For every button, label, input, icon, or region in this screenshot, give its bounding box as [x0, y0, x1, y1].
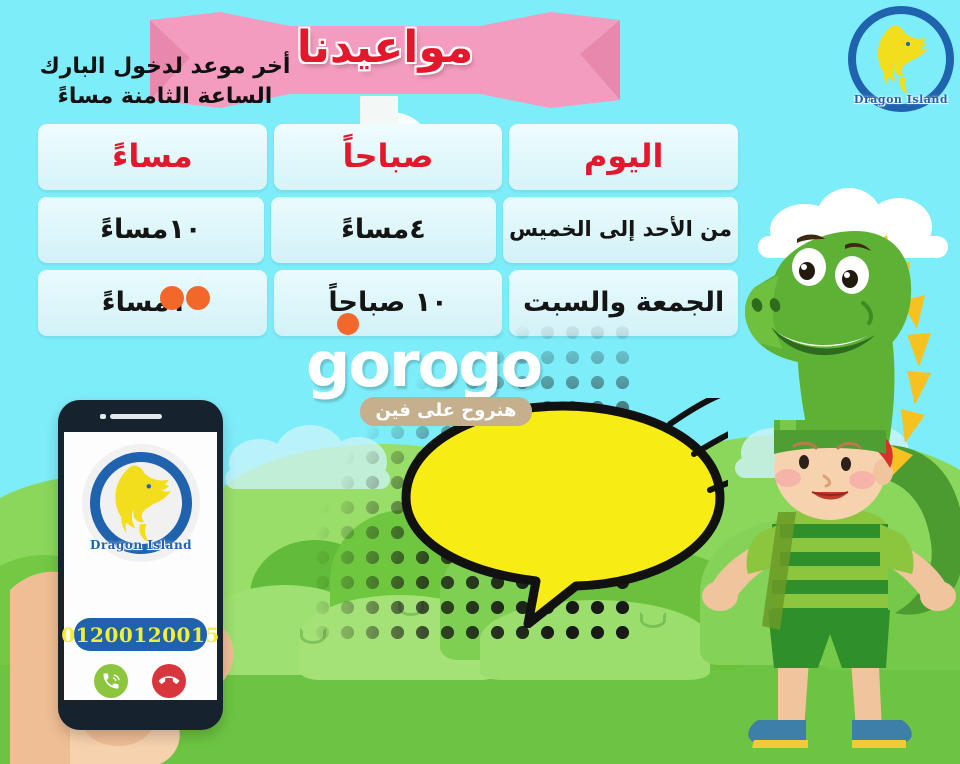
- phone-camera-icon: [100, 414, 106, 419]
- bush-swirl-2: [300, 628, 326, 644]
- schedule-row-2: الجمعة والسبت ١٠ صباحاً ١٠مساءً: [38, 270, 738, 336]
- schedule-header-row: اليوم صباحاً مساءً: [38, 124, 738, 190]
- watermark-wordmark: gorogo: [306, 336, 646, 395]
- decline-call-button[interactable]: [152, 664, 186, 698]
- phone-mockup: Dragon Island 01200120015: [58, 400, 223, 730]
- row2-evening: ١٠مساءً: [38, 270, 267, 336]
- row2-morning: ١٠ صباحاً: [274, 270, 503, 336]
- row1-day: من الأحد إلى الخميس: [503, 197, 738, 263]
- decor-dot-1: [160, 286, 184, 310]
- schedule-table: اليوم صباحاً مساءً من الأحد إلى الخميس ٤…: [38, 124, 738, 343]
- brand-logo-top: Dragon Island: [848, 6, 954, 112]
- logo-label-phone: Dragon Island: [82, 538, 200, 552]
- decor-dot-3: [337, 313, 359, 335]
- poster-canvas: Dragon Island مواعيدنا اليوم صباحاً مساء…: [0, 0, 960, 764]
- row1-morning: ٤مساءً: [271, 197, 497, 263]
- row1-evening: ١٠مساءً: [38, 197, 264, 263]
- boy-character: [700, 420, 960, 764]
- schedule-row-1: من الأحد إلى الخميس ٤مساءً ١٠مساءً: [38, 197, 738, 263]
- notice-line-2: الساعة الثامنة مساءً: [34, 82, 296, 112]
- brand-logo-phone: Dragon Island: [82, 444, 200, 562]
- phone-number-display: 01200120015: [74, 618, 207, 651]
- ribbon-tail: [360, 96, 398, 124]
- cloud-behind-phone: [225, 425, 390, 493]
- notice-text: أخر موعد لدخول البارك الساعة الثامنة مسا…: [34, 52, 296, 111]
- row2-day: الجمعة والسبت: [509, 270, 738, 336]
- decor-dot-2: [186, 286, 210, 310]
- accept-call-button[interactable]: [94, 664, 128, 698]
- header-cell-morning: صباحاً: [274, 124, 503, 190]
- header-cell-day: اليوم: [509, 124, 738, 190]
- phone-hangup-icon: [155, 667, 183, 695]
- notice-speech-bubble: [398, 398, 728, 628]
- phone-call-icon: [101, 671, 121, 691]
- logo-label: Dragon Island: [848, 93, 954, 106]
- notice-line-1: أخر موعد لدخول البارك: [34, 52, 296, 82]
- phone-screen: Dragon Island 01200120015: [64, 432, 217, 700]
- header-cell-evening: مساءً: [38, 124, 267, 190]
- phone-speaker-icon: [110, 414, 162, 419]
